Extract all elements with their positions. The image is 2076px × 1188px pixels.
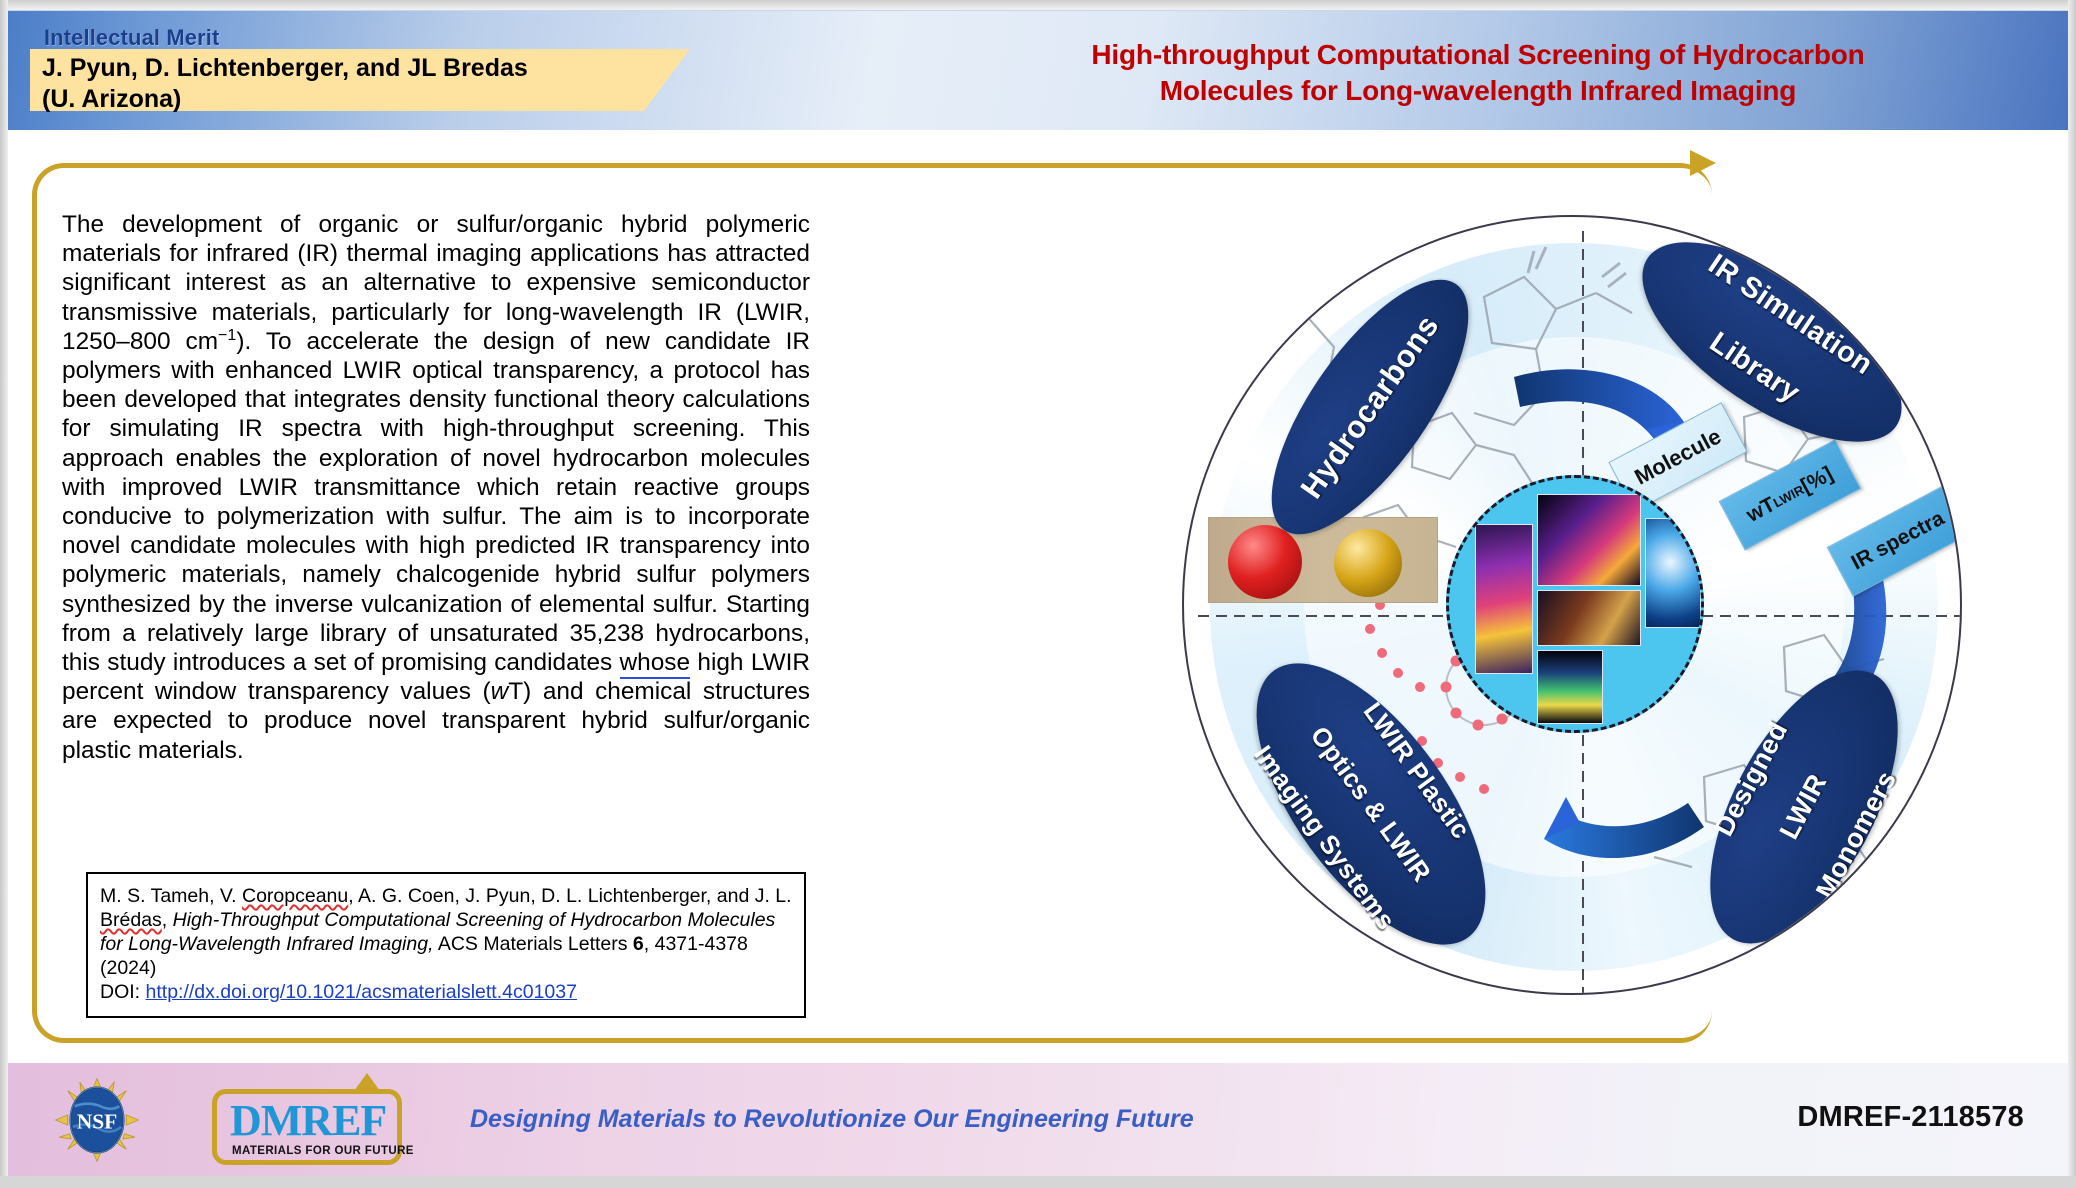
doi-label: DOI:	[100, 981, 146, 1003]
superscript-inverse-cm: −1	[218, 326, 236, 344]
dmref-logo: DMREF MATERIALS FOR OUR FUTURE	[204, 1073, 428, 1167]
slide-bottom-edge	[0, 1176, 2076, 1188]
intellectual-merit-label: Intellectual Merit	[44, 25, 219, 51]
thermal-thumb-phone	[1475, 524, 1533, 674]
citation-authors-post: ,	[162, 909, 173, 931]
dmref-logo-tagline: MATERIALS FOR OUR FUTURE	[232, 1145, 414, 1157]
abstract-text: The development of organic or sulfur/org…	[62, 210, 810, 765]
pi-names-line1: J. Pyun, D. Lichtenberger, and JL Bredas	[42, 53, 682, 84]
dmref-arrow-icon	[354, 1073, 380, 1091]
page-title: High-throughput Computational Screening …	[928, 37, 2028, 109]
sample-red-sphere	[1228, 525, 1302, 599]
sample-gold-sphere	[1334, 529, 1402, 597]
slide-left-edge	[0, 0, 8, 1188]
pi-names-line2: (U. Arizona)	[42, 84, 682, 115]
cycle-outer-circle: Molecule wTLWIR[%] IR spectra	[1182, 215, 1962, 995]
citation-box: M. S. Tameh, V. Coropceanu, A. G. Coen, …	[86, 872, 806, 1018]
doi-link[interactable]: http://dx.doi.org/10.1021/acsmaterialsle…	[146, 981, 577, 1003]
header-banner: Intellectual Merit J. Pyun, D. Lichtenbe…	[8, 10, 2068, 130]
award-number: DMREF-2118578	[1797, 1101, 2024, 1134]
nsf-logo-icon: NSF	[54, 1077, 140, 1163]
program-tagline: Designing Materials to Revolutionize Our…	[470, 1105, 1194, 1134]
cycle-diagram: Molecule wTLWIR[%] IR spectra	[1172, 205, 1972, 1005]
page-title-line2: Molecules for Long-wavelength Infrared I…	[928, 73, 2028, 109]
slide-right-edge	[2068, 0, 2076, 1188]
citation-author-coropceanu: Coropceanu	[242, 885, 348, 907]
thermal-imaging-hub	[1446, 475, 1704, 733]
thermal-thumb-scene	[1537, 590, 1641, 646]
citation-doi-row: DOI: http://dx.doi.org/10.1021/acsmateri…	[100, 980, 792, 1004]
nsf-logo-text: NSF	[77, 1110, 118, 1134]
slide-top-edge	[0, 0, 2076, 10]
pi-names: J. Pyun, D. Lichtenberger, and JL Bredas…	[42, 53, 682, 114]
citation-volume: 6	[633, 933, 644, 955]
wt-symbol-t: T	[508, 678, 523, 705]
wt-symbol-w: w	[491, 678, 509, 705]
dmref-logo-word: DMREF	[230, 1095, 386, 1146]
citation-journal: ACS Materials Letters	[434, 933, 633, 955]
citation-authors-mid: , A. G. Coen, J. Pyun, D. L. Lichtenberg…	[348, 885, 791, 907]
footer-bar: NSF DMREF MATERIALS FOR OUR FUTURE Desig…	[8, 1063, 2068, 1176]
frame-arrow-icon	[1690, 150, 1716, 176]
poster-slide: Intellectual Merit J. Pyun, D. Lichtenbe…	[0, 0, 2076, 1188]
abstract-part-2: ). To accelerate the design of new candi…	[62, 328, 810, 676]
thermal-thumb-body	[1537, 650, 1603, 724]
page-title-line1: High-throughput Computational Screening …	[928, 37, 2028, 73]
thermal-thumb-aerial	[1537, 494, 1641, 586]
citation-authors-pre: M. S. Tameh, V.	[100, 885, 242, 907]
citation-author-bredas: Brédas	[100, 909, 162, 931]
thermal-thumb-lens	[1645, 518, 1701, 628]
grammar-flagged-word: whose	[620, 649, 691, 679]
